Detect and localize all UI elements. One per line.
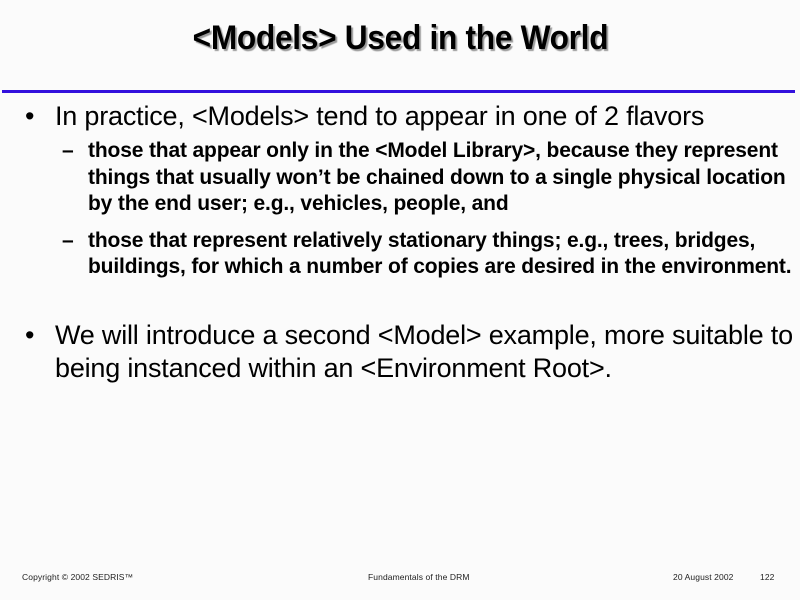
bullet-level1-2-text: We will introduce a second <Model> examp… — [55, 320, 793, 383]
dash-marker-icon: – — [62, 228, 74, 255]
page-title: <Models> Used in the World — [192, 18, 608, 58]
footer-copyright: Copyright © 2002 SEDRIS™ — [22, 572, 133, 582]
sub-bullet-list-1: – those that appear only in the <Model L… — [0, 138, 800, 281]
bullet-level1-1: • In practice, <Models> tend to appear i… — [0, 100, 800, 133]
bullet-level2-1: – those that appear only in the <Model L… — [0, 138, 800, 218]
footer-date: 20 August 2002 — [673, 572, 733, 582]
footer-page-number: 122 — [760, 572, 774, 582]
bullet-level2-2: – those that represent relatively statio… — [0, 228, 800, 281]
slide: <Models> Used in the World • In practice… — [0, 0, 800, 600]
bullet-marker-icon: • — [25, 100, 34, 133]
title-divider-rule — [2, 90, 795, 93]
bullet-level2-1-text: those that appear only in the <Model Lib… — [88, 139, 786, 215]
slide-title-area: <Models> Used in the World — [0, 18, 800, 58]
dash-marker-icon: – — [62, 138, 74, 165]
bullet-level2-2-text: those that represent relatively stationa… — [88, 229, 791, 279]
bullet-level1-2: • We will introduce a second <Model> exa… — [0, 319, 800, 385]
bullet-marker-icon: • — [25, 319, 34, 352]
slide-footer: Copyright © 2002 SEDRIS™ Fundamentals of… — [0, 572, 800, 588]
bullet-level1-1-text: In practice, <Models> tend to appear in … — [55, 101, 704, 131]
spacer — [0, 281, 800, 319]
slide-body: • In practice, <Models> tend to appear i… — [0, 100, 800, 385]
footer-deck-title: Fundamentals of the DRM — [368, 572, 470, 582]
spacer — [0, 218, 800, 228]
